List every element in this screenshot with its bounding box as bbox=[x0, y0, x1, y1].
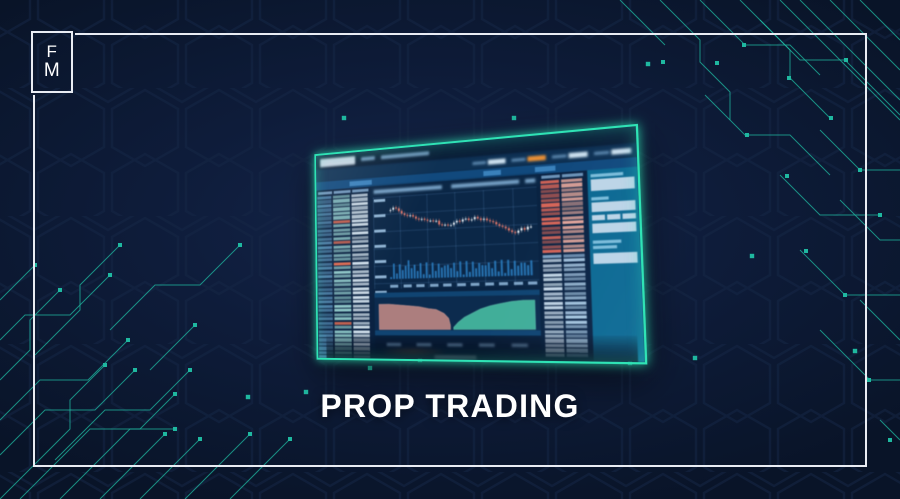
book-cell bbox=[352, 270, 368, 273]
book-cell bbox=[334, 283, 351, 286]
book-cell bbox=[318, 233, 332, 237]
chart-y-tick bbox=[375, 245, 386, 248]
order-entry-label-price bbox=[591, 196, 608, 200]
book-cell bbox=[352, 248, 368, 252]
book-cell bbox=[319, 326, 333, 329]
candlestick-chart bbox=[373, 186, 540, 289]
book-cell bbox=[564, 263, 585, 267]
book-cell bbox=[545, 325, 564, 328]
book-cell bbox=[544, 311, 563, 314]
book-cell bbox=[334, 287, 351, 290]
book-cell bbox=[544, 287, 563, 291]
book-cell bbox=[318, 229, 332, 233]
book-cell bbox=[334, 266, 351, 269]
book-cell bbox=[317, 217, 331, 221]
book-cell bbox=[353, 291, 369, 294]
book-cell bbox=[333, 232, 350, 236]
order-entry-chip-3[interactable] bbox=[622, 213, 636, 219]
book-cell bbox=[318, 258, 332, 261]
book-cell bbox=[318, 246, 332, 249]
book-cell bbox=[562, 206, 583, 210]
book-cell bbox=[318, 267, 332, 270]
order-book-header-size bbox=[562, 173, 583, 178]
book-cell bbox=[353, 274, 369, 277]
book-cell bbox=[333, 224, 350, 228]
terminal-nav-item-1 bbox=[361, 156, 375, 161]
chart-toolbar-btn-1[interactable] bbox=[486, 181, 500, 186]
ticker-value-3 bbox=[569, 152, 588, 159]
book-cell bbox=[563, 244, 584, 248]
book-cell bbox=[334, 313, 351, 316]
book-cell bbox=[543, 254, 562, 258]
book-cell bbox=[334, 309, 351, 312]
subbar-chip-2 bbox=[483, 170, 501, 176]
ticker-label-4 bbox=[594, 151, 609, 155]
chart-x-tick bbox=[485, 282, 494, 285]
book-cell bbox=[352, 219, 368, 223]
book-cell bbox=[352, 236, 368, 240]
book-cell bbox=[563, 253, 584, 257]
book-cell bbox=[565, 296, 586, 300]
book-cell bbox=[334, 258, 351, 262]
chart-toolbar-stats bbox=[451, 180, 509, 188]
book-cell bbox=[544, 292, 563, 296]
ticker-value-4 bbox=[611, 148, 631, 155]
book-cell bbox=[333, 237, 350, 241]
poster-canvas: F M bbox=[0, 0, 900, 499]
book-cell bbox=[317, 208, 331, 212]
fm-logo-letter-m: M bbox=[44, 61, 60, 81]
book-cell bbox=[334, 249, 351, 253]
book-cell bbox=[542, 231, 561, 235]
chart-y-tick bbox=[374, 229, 385, 232]
chart-y-tick bbox=[374, 214, 385, 218]
chart-y-axis bbox=[374, 199, 387, 294]
book-cell bbox=[566, 325, 587, 328]
book-cell bbox=[565, 291, 586, 295]
terminal-body bbox=[316, 167, 645, 363]
monitor bbox=[314, 124, 647, 365]
desk-shadow bbox=[326, 335, 638, 362]
ticker-value-2 bbox=[527, 155, 545, 162]
book-cell bbox=[563, 230, 584, 234]
book-cell bbox=[352, 227, 368, 231]
book-cell bbox=[353, 321, 369, 324]
book-cell bbox=[353, 317, 369, 320]
book-cell bbox=[334, 270, 351, 273]
book-cell bbox=[542, 236, 561, 240]
order-entry-field-total[interactable] bbox=[592, 222, 636, 234]
book-cell bbox=[334, 300, 351, 303]
book-cell bbox=[564, 268, 585, 272]
book-cell bbox=[565, 311, 586, 314]
book-cell bbox=[563, 225, 584, 229]
book-cell bbox=[542, 240, 561, 244]
book-cell bbox=[353, 278, 369, 281]
book-cell bbox=[334, 241, 351, 245]
order-entry-field-price[interactable] bbox=[591, 200, 635, 212]
ticker-label-3 bbox=[552, 154, 567, 158]
book-cell bbox=[352, 266, 368, 269]
chart-x-tick bbox=[471, 283, 480, 286]
book-cell bbox=[318, 271, 332, 274]
trade-history-header-2 bbox=[334, 190, 351, 194]
book-cell bbox=[542, 245, 561, 249]
chart-y-tick bbox=[375, 275, 386, 278]
book-cell bbox=[564, 277, 585, 281]
candlestick-series bbox=[373, 186, 540, 289]
book-cell bbox=[352, 244, 368, 248]
chart-toolbar-ohlc bbox=[374, 185, 442, 194]
book-cell bbox=[317, 204, 331, 208]
book-cell bbox=[334, 253, 351, 257]
book-cell bbox=[544, 297, 563, 301]
trade-history-panel bbox=[316, 187, 372, 359]
trading-terminal-photo bbox=[296, 139, 636, 361]
book-cell bbox=[545, 330, 564, 333]
terminal-logo bbox=[320, 156, 355, 167]
chart-x-tick bbox=[416, 284, 424, 287]
book-cell bbox=[564, 258, 585, 262]
chart-x-tick bbox=[390, 285, 398, 288]
subbar-chip-3 bbox=[535, 166, 556, 173]
book-cell bbox=[544, 301, 563, 305]
book-cell bbox=[334, 317, 351, 320]
book-cell bbox=[353, 330, 369, 333]
fm-logo-letter-f: F bbox=[47, 43, 58, 61]
book-cell bbox=[318, 305, 332, 308]
book-cell bbox=[541, 212, 560, 216]
market-depth-chart bbox=[374, 290, 541, 336]
book-cell bbox=[352, 240, 368, 244]
order-entry-summary-1 bbox=[593, 239, 622, 243]
order-entry-summary-2 bbox=[593, 245, 617, 249]
book-cell bbox=[565, 306, 586, 310]
book-cell bbox=[318, 238, 332, 242]
chart-toolbar-btn-3[interactable] bbox=[525, 178, 535, 183]
ticker-item-1 bbox=[472, 158, 505, 166]
chart-x-tick bbox=[457, 283, 466, 286]
book-cell bbox=[563, 249, 584, 253]
book-cell bbox=[352, 223, 368, 227]
book-cell bbox=[335, 321, 352, 324]
order-entry-submit-button[interactable] bbox=[593, 252, 637, 264]
book-cell bbox=[544, 306, 563, 309]
book-cell bbox=[319, 317, 333, 320]
book-cell bbox=[542, 250, 561, 254]
book-cell bbox=[318, 225, 332, 229]
book-cell bbox=[566, 320, 587, 323]
trade-history-header-1 bbox=[318, 191, 332, 195]
book-cell bbox=[566, 330, 587, 333]
book-cell bbox=[542, 222, 561, 226]
trade-history-header-3 bbox=[352, 189, 368, 193]
order-entry-chip-1[interactable] bbox=[592, 215, 605, 221]
book-cell bbox=[319, 322, 333, 325]
book-cell bbox=[318, 242, 332, 246]
book-cell bbox=[319, 330, 333, 333]
book-cell bbox=[545, 320, 564, 323]
book-cell bbox=[352, 231, 368, 235]
book-cell bbox=[318, 284, 332, 287]
book-cell bbox=[318, 279, 332, 282]
book-cell bbox=[543, 282, 562, 286]
book-cell bbox=[562, 211, 583, 215]
order-book-rows bbox=[540, 178, 592, 357]
chart-y-tick bbox=[375, 260, 386, 263]
ticker-item-3 bbox=[552, 152, 588, 160]
book-cell bbox=[544, 316, 563, 319]
book-cell bbox=[334, 279, 351, 282]
book-cell bbox=[543, 268, 562, 272]
ticker-item-4 bbox=[594, 148, 631, 156]
book-cell bbox=[564, 287, 585, 291]
order-entry-field-amount[interactable] bbox=[591, 176, 635, 191]
order-entry-chip-2[interactable] bbox=[607, 214, 620, 220]
book-cell bbox=[335, 330, 352, 333]
book-cell bbox=[562, 202, 583, 206]
page-title: PROP TRADING bbox=[0, 388, 900, 425]
book-cell bbox=[564, 272, 585, 276]
book-cell bbox=[541, 208, 560, 212]
book-cell bbox=[563, 235, 584, 239]
book-cell bbox=[318, 292, 332, 295]
book-cell bbox=[353, 313, 369, 316]
book-cell bbox=[541, 217, 560, 221]
book-cell bbox=[353, 326, 369, 329]
book-cell bbox=[319, 313, 333, 316]
book-cell bbox=[334, 296, 351, 299]
book-cell bbox=[541, 189, 560, 193]
book-cell bbox=[353, 300, 369, 303]
book-cell bbox=[543, 259, 562, 263]
book-cell bbox=[335, 326, 352, 329]
book-cell bbox=[319, 309, 333, 312]
book-cell bbox=[318, 263, 332, 266]
chart-x-tick bbox=[443, 283, 452, 286]
order-book-header-price bbox=[541, 174, 560, 178]
book-cell bbox=[353, 308, 369, 311]
book-cell bbox=[334, 292, 351, 295]
chart-toolbar-btn-2[interactable] bbox=[505, 180, 519, 185]
book-cell bbox=[564, 282, 585, 286]
book-cell bbox=[353, 296, 369, 299]
chart-y-tick bbox=[374, 199, 385, 203]
order-book-panel bbox=[539, 170, 594, 361]
fm-logo: F M bbox=[31, 31, 73, 93]
book-cell bbox=[541, 198, 560, 202]
book-cell bbox=[318, 296, 332, 299]
book-cell bbox=[565, 315, 586, 318]
ticker-label-1 bbox=[472, 161, 486, 165]
book-cell bbox=[543, 264, 562, 268]
ticker-item-2 bbox=[511, 155, 545, 163]
book-cell bbox=[565, 301, 586, 305]
book-cell bbox=[353, 283, 369, 286]
book-cell bbox=[317, 213, 331, 217]
ticker-value-1 bbox=[488, 158, 506, 164]
book-cell bbox=[333, 228, 350, 232]
book-cell bbox=[318, 288, 332, 291]
book-cell bbox=[562, 216, 583, 220]
book-cell bbox=[353, 287, 369, 290]
chart-area bbox=[370, 174, 545, 361]
book-cell bbox=[352, 253, 368, 257]
book-cell bbox=[543, 278, 562, 282]
book-cell bbox=[334, 275, 351, 278]
book-cell bbox=[318, 254, 332, 257]
book-cell bbox=[541, 194, 560, 198]
book-cell bbox=[353, 304, 369, 307]
chart-x-tick bbox=[528, 281, 537, 284]
book-cell bbox=[318, 250, 332, 253]
book-column-2 bbox=[561, 178, 588, 357]
order-entry-panel bbox=[587, 167, 645, 363]
terminal-nav-item-2 bbox=[381, 151, 429, 159]
frame-top-edge bbox=[75, 33, 867, 35]
book-cell bbox=[334, 304, 351, 307]
book-cell bbox=[352, 215, 368, 219]
book-cell bbox=[334, 245, 351, 249]
book-cell bbox=[563, 239, 584, 243]
book-cell bbox=[542, 226, 561, 230]
book-cell bbox=[318, 221, 332, 225]
chart-x-tick bbox=[430, 284, 438, 287]
terminal-screen bbox=[316, 126, 645, 362]
book-cell bbox=[318, 275, 332, 278]
book-cell bbox=[352, 257, 368, 261]
book-cell bbox=[334, 262, 351, 266]
chart-x-tick bbox=[403, 284, 411, 287]
book-cell bbox=[562, 220, 583, 224]
subbar-chip-1 bbox=[350, 180, 372, 186]
book-cell bbox=[541, 203, 560, 207]
book-cell bbox=[352, 261, 368, 265]
chart-x-tick bbox=[499, 282, 508, 285]
book-cell bbox=[333, 220, 350, 224]
frame-bottom-edge bbox=[33, 465, 867, 467]
book-cell bbox=[543, 273, 562, 277]
ticker-label-2 bbox=[511, 158, 525, 162]
book-cell bbox=[318, 300, 332, 303]
chart-x-tick bbox=[513, 282, 522, 285]
